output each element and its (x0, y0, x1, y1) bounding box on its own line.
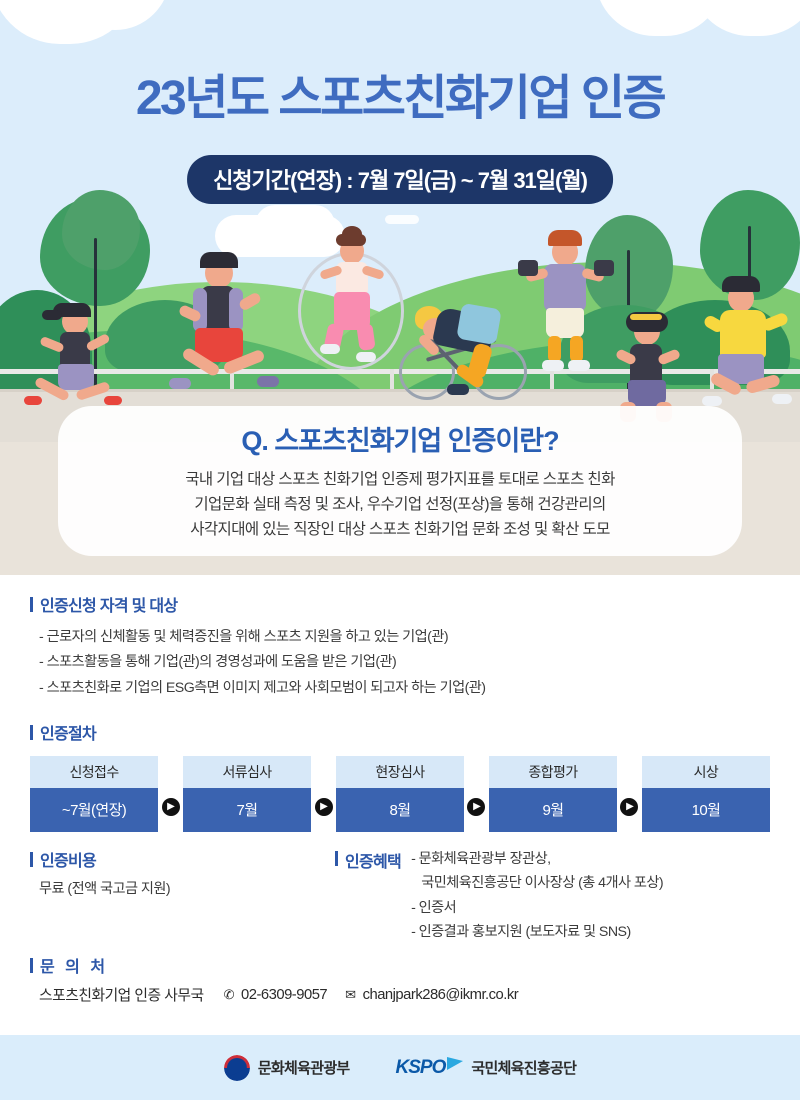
kspo-swoosh-icon (447, 1057, 463, 1070)
heading-bar-icon (30, 597, 33, 612)
cost-section: 인증비용 무료 (전액 국고금 지원) (30, 847, 335, 945)
question-card: Q. 스포츠친화기업 인증이란? 국내 기업 대상 스포츠 친화기업 인증제 평… (58, 406, 742, 556)
process-step: 종합평가 9월 (489, 756, 617, 832)
phone-icon: ✆ (224, 987, 234, 1003)
question-body-line-3: 사각지대에 있는 직장인 대상 스포츠 친화기업 문화 조성 및 확산 도모 (185, 517, 615, 542)
eligibility-heading-label: 인증신청 자격 및 대상 (40, 592, 177, 616)
step-period: 10월 (642, 788, 770, 832)
jump-rope-figure (298, 228, 408, 378)
step-period: 9월 (489, 788, 617, 832)
step-name: 현장심사 (336, 756, 464, 788)
contact-section: 문 의 처 스포츠친화기업 인증 사무국 ✆ 02-6309-9057 ✉ ch… (30, 953, 770, 1005)
cost-heading-label: 인증비용 (40, 847, 96, 871)
arrow-right-icon: ▶ (467, 798, 485, 816)
contact-office: 스포츠친화기업 인증 사무국 (39, 984, 204, 1005)
question-body-line-1: 국내 기업 대상 스포츠 친화기업 인증제 평가지표를 토대로 스포츠 친화 (185, 467, 615, 492)
list-item: 국민체육진흥공단 이사장상 (총 4개사 포상) (411, 871, 663, 895)
arrow-right-icon: ▶ (162, 798, 180, 816)
kspo-mark-label: KSPO (396, 1057, 446, 1079)
step-arrow: ▶ (464, 756, 489, 832)
step-period: ~7월(연장) (30, 788, 158, 832)
step-arrow: ▶ (311, 756, 336, 832)
benefits-heading: 인증혜택 (335, 847, 401, 945)
runner-man-figure (165, 252, 285, 404)
cost-value: 무료 (전액 국고금 지원) (30, 878, 335, 898)
process-step: 신청접수 ~7월(연장) (30, 756, 158, 832)
process-step: 현장심사 8월 (336, 756, 464, 832)
heading-bar-icon (335, 851, 338, 866)
footer-logos: 문화체육관광부 KSPO 국민체육진흥공단 (0, 1035, 800, 1100)
arrow-right-icon: ▶ (620, 798, 638, 816)
cost-benefits-row: 인증비용 무료 (전액 국고금 지원) 인증혜택 - 문화체육관광부 장관상, … (30, 847, 770, 945)
kspo-logo-label: 국민체육진흥공단 (471, 1057, 576, 1078)
heading-bar-icon (30, 852, 33, 867)
list-item: - 근로자의 신체활동 및 체력증진을 위해 스포츠 지원을 하고 있는 기업(… (39, 625, 770, 650)
cost-heading: 인증비용 (30, 847, 335, 871)
step-period: 8월 (336, 788, 464, 832)
list-item: - 문화체육관광부 장관상, (411, 847, 663, 871)
contact-heading: 문 의 처 (30, 953, 770, 977)
arrow-right-icon: ▶ (315, 798, 333, 816)
taeguk-icon (224, 1055, 250, 1081)
contact-phone[interactable]: 02-6309-9057 (241, 987, 327, 1003)
list-item: - 인증서 (411, 896, 663, 920)
email-icon: ✉ (345, 987, 355, 1003)
contact-email[interactable]: chanjpark286@ikmr.co.kr (363, 987, 519, 1003)
page-title: 23년도 스포츠친화기업 인증 (0, 58, 800, 128)
cloud-icon (385, 215, 419, 224)
question-title: Q. 스포츠친화기업 인증이란? (241, 419, 558, 458)
process-steps: 신청접수 ~7월(연장) ▶ 서류심사 7월 ▶ 현장심사 8월 (30, 756, 770, 832)
process-step: 서류심사 7월 (183, 756, 311, 832)
eligibility-heading: 인증신청 자격 및 대상 (30, 592, 770, 616)
hero-illustration: 23년도 스포츠친화기업 인증 신청기간(연장) : 7월 7일(금) ~ 7월… (0, 0, 800, 575)
step-name: 종합평가 (489, 756, 617, 788)
heading-bar-icon (30, 958, 33, 973)
contact-heading-label: 문 의 처 (40, 953, 108, 977)
heading-bar-icon (30, 725, 33, 740)
runner-woman-figure (20, 300, 130, 410)
kspo-logo: KSPO 국민체육진흥공단 (396, 1057, 577, 1079)
application-period-badge: 신청기간(연장) : 7월 7일(금) ~ 7월 31일(월) (187, 155, 613, 204)
step-name: 신청접수 (30, 756, 158, 788)
benefits-heading-label: 인증혜택 (345, 848, 401, 872)
process-step: 시상 10월 (642, 756, 770, 832)
step-name: 시상 (642, 756, 770, 788)
eligibility-list: - 근로자의 신체활동 및 체력증진을 위해 스포츠 지원을 하고 있는 기업(… (30, 625, 770, 701)
question-body: 국내 기업 대상 스포츠 친화기업 인증제 평가지표를 토대로 스포츠 친화 기… (185, 467, 615, 542)
list-item: - 스포츠활동을 통해 기업(관)의 경영성과에 도움을 받은 기업(관) (39, 650, 770, 675)
question-body-line-2: 기업문화 실태 측정 및 조사, 우수기업 선정(포상)을 통해 건강관리의 (185, 492, 615, 517)
list-item: - 스포츠친화로 기업의 ESG측면 이미지 제고와 사회모범이 되고자 하는 … (39, 676, 770, 701)
step-name: 서류심사 (183, 756, 311, 788)
step-arrow: ▶ (617, 756, 642, 832)
process-heading: 인증절차 (30, 720, 770, 744)
contact-details: 스포츠친화기업 인증 사무국 ✆ 02-6309-9057 ✉ chanjpar… (30, 984, 770, 1005)
jogger-yellow-figure (700, 278, 800, 408)
step-period: 7월 (183, 788, 311, 832)
benefits-list: - 문화체육관광부 장관상, 국민체육진흥공단 이사장상 (총 4개사 포상) … (411, 847, 663, 945)
ministry-logo-label: 문화체육관광부 (258, 1057, 350, 1078)
list-item: - 인증결과 홍보지원 (보도자료 및 SNS) (411, 920, 663, 944)
benefits-section: 인증혜택 - 문화체육관광부 장관상, 국민체육진흥공단 이사장상 (총 4개사… (335, 847, 663, 945)
content-area: 인증신청 자격 및 대상 - 근로자의 신체활동 및 체력증진을 위해 스포츠 … (0, 575, 800, 1035)
step-arrow: ▶ (158, 756, 183, 832)
poster: 23년도 스포츠친화기업 인증 신청기간(연장) : 7월 7일(금) ~ 7월… (0, 0, 800, 1100)
cloud-icon (690, 0, 800, 36)
ministry-logo: 문화체육관광부 (224, 1055, 350, 1081)
process-section: 인증절차 신청접수 ~7월(연장) ▶ 서류심사 7월 ▶ 현장심사 (30, 720, 770, 832)
process-heading-label: 인증절차 (40, 720, 96, 744)
eligibility-section: 인증신청 자격 및 대상 - 근로자의 신체활동 및 체력증진을 위해 스포츠 … (30, 592, 770, 701)
